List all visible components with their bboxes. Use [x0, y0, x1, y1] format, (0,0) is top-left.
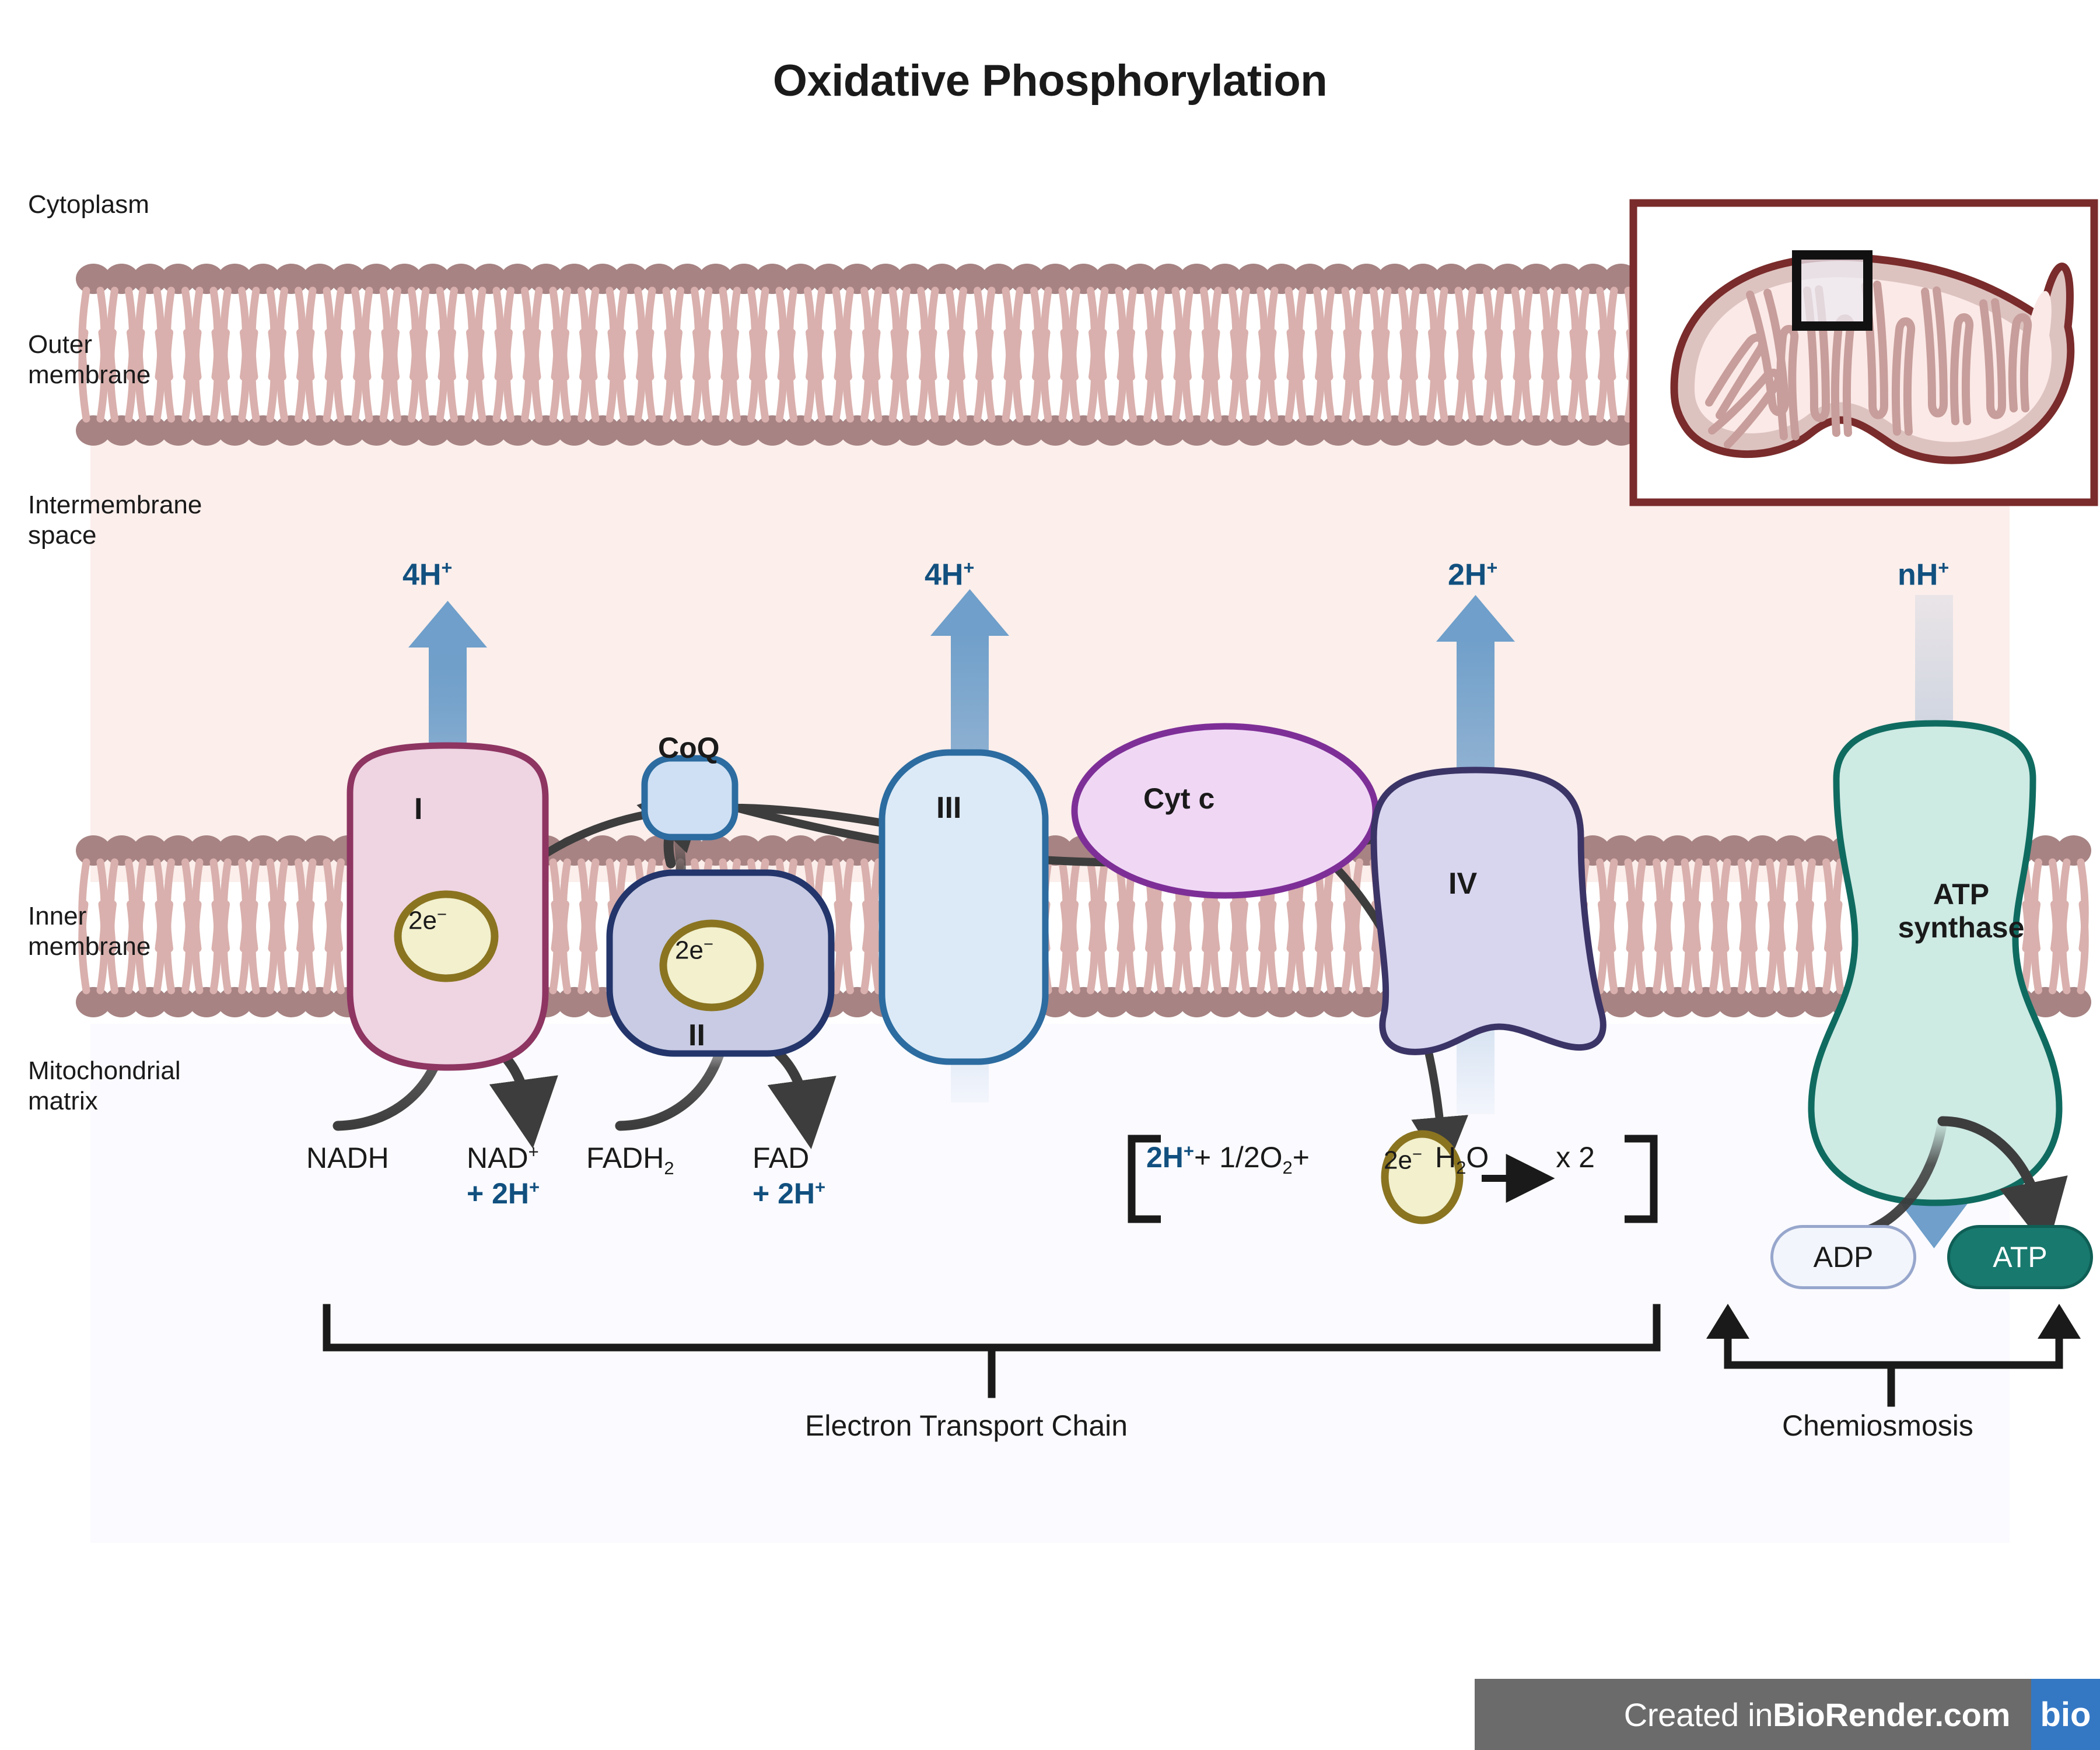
fad-protons-text: + 2H — [752, 1177, 815, 1210]
complex-iii-shape[interactable] — [882, 752, 1045, 1062]
label-outer-membrane-line1: Outer — [28, 330, 150, 360]
fadh2-text: FADH — [586, 1142, 664, 1174]
label-matrix-line1: Mitochondrial — [28, 1056, 181, 1086]
proton-label-complex-iii-sup: + — [963, 557, 974, 578]
nad-plus-label: NAD+ + 2H+ — [467, 1140, 540, 1212]
complex-iii-label: III — [936, 790, 961, 825]
label-intermembrane-line1: Intermembrane — [28, 490, 202, 520]
cyt-c-shape[interactable] — [1074, 726, 1375, 895]
label-inner-membrane-line1: Inner — [28, 901, 150, 932]
watermark-text: Created in BioRender.com — [1475, 1679, 2031, 1750]
water-eq-plus: + — [1293, 1141, 1310, 1174]
label-inner-membrane: Inner membrane — [28, 901, 150, 962]
label-outer-membrane: Outer membrane — [28, 330, 150, 390]
nad-plus-line2: + 2H+ — [467, 1176, 540, 1212]
matrix-bg — [90, 1024, 2010, 1543]
page-title: Oxidative Phosphorylation — [0, 55, 2100, 106]
proton-label-atp-synthase-sup: + — [1938, 557, 1949, 578]
label-inner-membrane-line2: membrane — [28, 932, 150, 962]
electron-transport-chain-label: Electron Transport Chain — [805, 1409, 1128, 1443]
proton-label-complex-iii-text: 4H — [925, 558, 963, 591]
water-eq-water: H — [1435, 1141, 1456, 1174]
coq-shape[interactable] — [645, 758, 735, 837]
electron-label-complex-ii: 2e− — [675, 935, 713, 965]
nad-plus-sup: + — [528, 1141, 539, 1161]
complex-i-label: I — [414, 792, 422, 827]
label-matrix-line2: matrix — [28, 1086, 181, 1116]
diagram-vector-layer — [0, 0, 2100, 1750]
label-intermembrane-line2: space — [28, 520, 202, 551]
nad-protons-text: + 2H — [467, 1177, 529, 1210]
electron-label-complex-ii-sup: − — [703, 935, 713, 954]
water-eq-protons: 2H — [1146, 1141, 1184, 1174]
electron-label-equation: 2e− — [1384, 1145, 1422, 1175]
proton-label-complex-iv: 2H+ — [1448, 557, 1497, 592]
label-outer-membrane-line2: membrane — [28, 360, 150, 390]
complex-ii-label: II — [688, 1018, 705, 1053]
water-eq-protons-sup: + — [1184, 1140, 1194, 1161]
water-eq-water-sub: 2 — [1456, 1157, 1466, 1178]
fadh2-sub: 2 — [664, 1158, 674, 1178]
fad-line2: + 2H+ — [752, 1176, 825, 1212]
proton-label-complex-i-text: 4H — [402, 558, 441, 591]
electron-label-complex-i-text: 2e — [408, 907, 437, 935]
complex-iv-label: IV — [1448, 866, 1477, 901]
chemiosmosis-label: Chemiosmosis — [1782, 1409, 1973, 1443]
proton-label-complex-i: 4H+ — [402, 557, 452, 592]
fadh2-label: FADH2 — [586, 1140, 674, 1179]
outer-membrane — [76, 264, 1639, 446]
water-equation: 2H++ 1/2O2+H2Ox 2 — [1146, 1140, 1595, 1178]
mitochondrion-inset — [1633, 203, 2094, 502]
nadh-label: NADH — [306, 1140, 389, 1176]
biorender-watermark: Created in BioRender.com bio — [1475, 1679, 2100, 1750]
nad-plus-line1: NAD+ — [467, 1140, 540, 1176]
electron-label-complex-i-sup: − — [437, 905, 447, 924]
atp-synthase-label-line1: ATP — [1874, 878, 2049, 911]
water-eq-water-o: O — [1466, 1141, 1489, 1174]
proton-label-complex-iii: 4H+ — [925, 557, 974, 592]
diagram-canvas: Oxidative Phosphorylation Cytoplasm Oute… — [0, 0, 2100, 1750]
water-eq-oxygen-sub: 2 — [1283, 1157, 1293, 1178]
atp-synthase-label-line2: synthase — [1874, 911, 2049, 944]
proton-label-atp-synthase-text: nH — [1898, 558, 1938, 591]
cyt-c-label: Cyt c — [1143, 782, 1214, 815]
coq-label: CoQ — [658, 731, 720, 765]
proton-label-complex-iv-sup: + — [1486, 557, 1497, 578]
electron-label-complex-ii-text: 2e — [675, 936, 703, 965]
atp-synthase-label: ATP synthase — [1874, 878, 2049, 944]
atp-synthase-shape[interactable] — [1811, 723, 2059, 1203]
nad-plus-text: NAD — [467, 1142, 528, 1174]
watermark-brand: BioRender.com — [1773, 1696, 2010, 1734]
fad-protons-sup: + — [815, 1177, 825, 1197]
water-eq-oxygen: + 1/2O — [1194, 1141, 1283, 1174]
proton-label-atp-synthase: nH+ — [1898, 557, 1949, 592]
electron-label-equation-text: 2e — [1384, 1146, 1412, 1175]
atp-badge[interactable]: ATP — [1947, 1225, 2093, 1289]
watermark-prefix: Created in — [1624, 1696, 1773, 1734]
label-mitochondrial-matrix: Mitochondrial matrix — [28, 1056, 181, 1116]
fad-line1: FAD — [752, 1140, 825, 1176]
biorender-logo-icon: bio — [2031, 1679, 2100, 1750]
electron-label-equation-sup: − — [1412, 1145, 1422, 1164]
electron-label-complex-i: 2e− — [408, 905, 447, 936]
complex-iv-shape[interactable] — [1374, 770, 1603, 1052]
nad-protons-sup: + — [529, 1177, 540, 1197]
proton-label-complex-iv-text: 2H — [1448, 558, 1486, 591]
fad-label: FAD + 2H+ — [752, 1140, 825, 1212]
zoom-region-box — [1797, 255, 1868, 326]
proton-label-complex-i-sup: + — [441, 557, 452, 578]
label-intermembrane-space: Intermembrane space — [28, 490, 202, 551]
label-cytoplasm: Cytoplasm — [28, 190, 149, 220]
adp-badge[interactable]: ADP — [1770, 1225, 1916, 1289]
water-eq-multiplier: x 2 — [1556, 1141, 1595, 1174]
chemiosmosis-arrowhead-right — [2038, 1304, 2081, 1339]
